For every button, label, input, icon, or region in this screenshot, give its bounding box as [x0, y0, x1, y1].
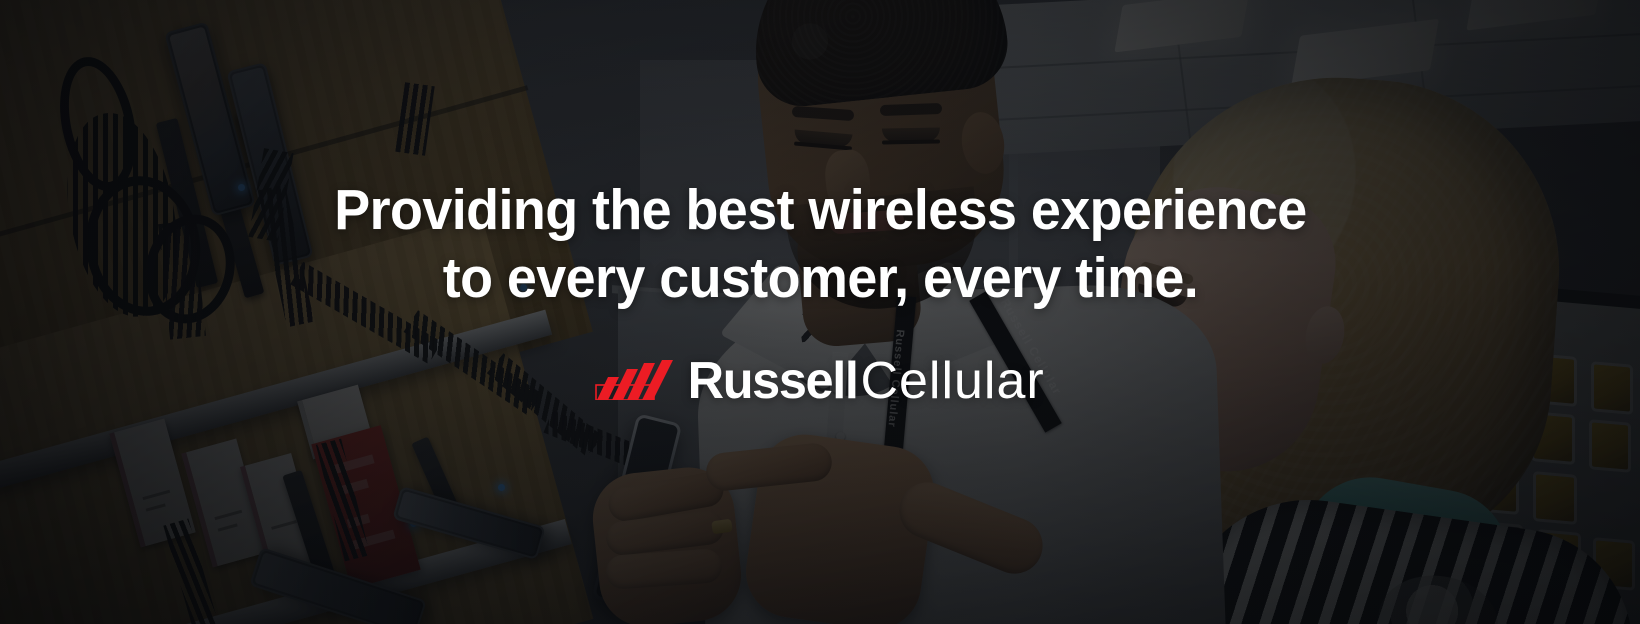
photo-edge-vignette [0, 0, 1640, 624]
page-title: Providing the best wireless experience t… [334, 176, 1306, 312]
logo-wordmark: RussellCellular [685, 355, 1044, 407]
logo-word-russell: Russell [688, 355, 858, 407]
logo-word-cellular: Cellular [860, 352, 1044, 410]
headline-line-1: Providing the best wireless experience [334, 178, 1306, 242]
russell-cellular-chevron-bars-icon [595, 360, 673, 400]
hero-banner: Russell Cellular Russell Cellular Provid… [0, 0, 1640, 624]
headline-line-2: to every customer, every time. [334, 244, 1306, 312]
russell-cellular-logo[interactable]: RussellCellular [595, 355, 1044, 407]
